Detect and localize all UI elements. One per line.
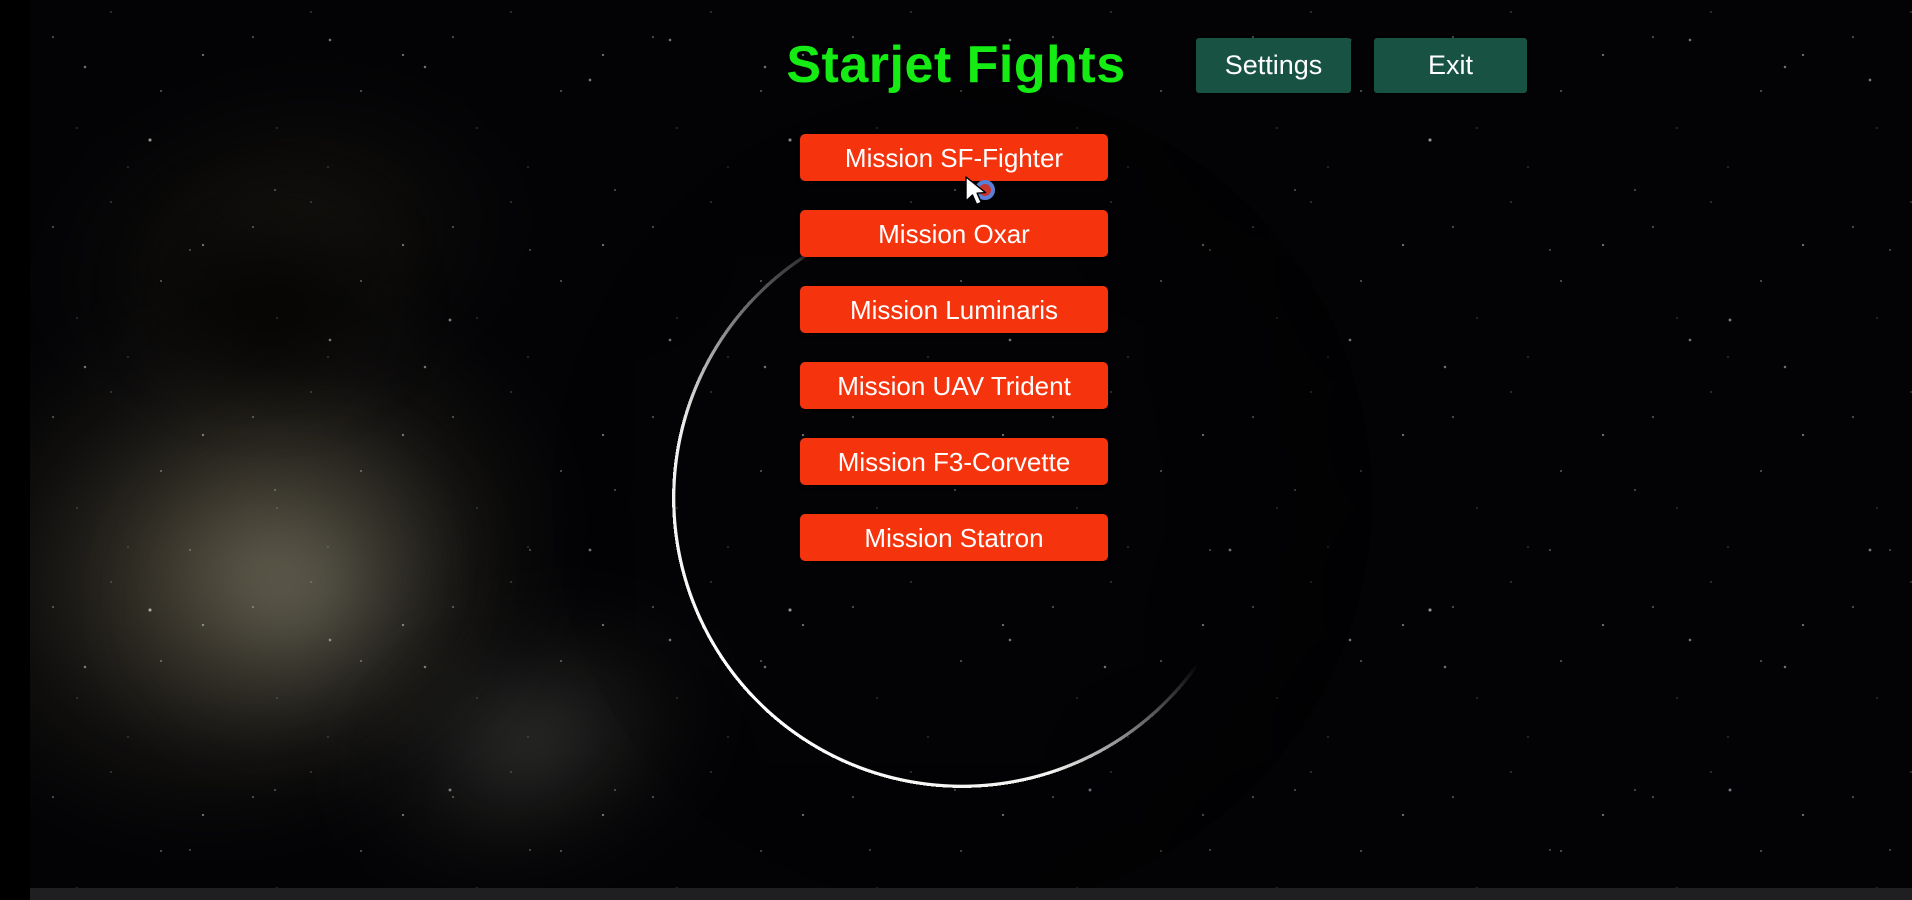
mission-button-uav-trident[interactable]: Mission UAV Trident bbox=[800, 362, 1108, 409]
nebula-dark-lane bbox=[90, 150, 450, 450]
mission-button-oxar[interactable]: Mission Oxar bbox=[800, 210, 1108, 257]
mission-button-sf-fighter[interactable]: Mission SF-Fighter bbox=[800, 134, 1108, 181]
nebula-cloud-main bbox=[30, 50, 763, 888]
game-title: Starjet Fights bbox=[0, 35, 1912, 95]
mission-button-f3-corvette[interactable]: Mission F3-Corvette bbox=[800, 438, 1108, 485]
exit-button[interactable]: Exit bbox=[1374, 38, 1527, 93]
top-button-bar: Settings Exit bbox=[1196, 38, 1527, 93]
bottom-taskbar-sliver bbox=[0, 888, 1912, 900]
mission-button-list: Mission SF-Fighter Mission Oxar Mission … bbox=[800, 134, 1108, 561]
game-screen: Starjet Fights Settings Exit Mission SF-… bbox=[0, 0, 1912, 900]
mission-button-luminaris[interactable]: Mission Luminaris bbox=[800, 286, 1108, 333]
mission-button-statron[interactable]: Mission Statron bbox=[800, 514, 1108, 561]
settings-button[interactable]: Settings bbox=[1196, 38, 1351, 93]
nebula-cloud-bright bbox=[30, 252, 638, 888]
nebula-cloud-lower bbox=[224, 482, 836, 888]
left-letterbox-bar bbox=[0, 0, 30, 900]
